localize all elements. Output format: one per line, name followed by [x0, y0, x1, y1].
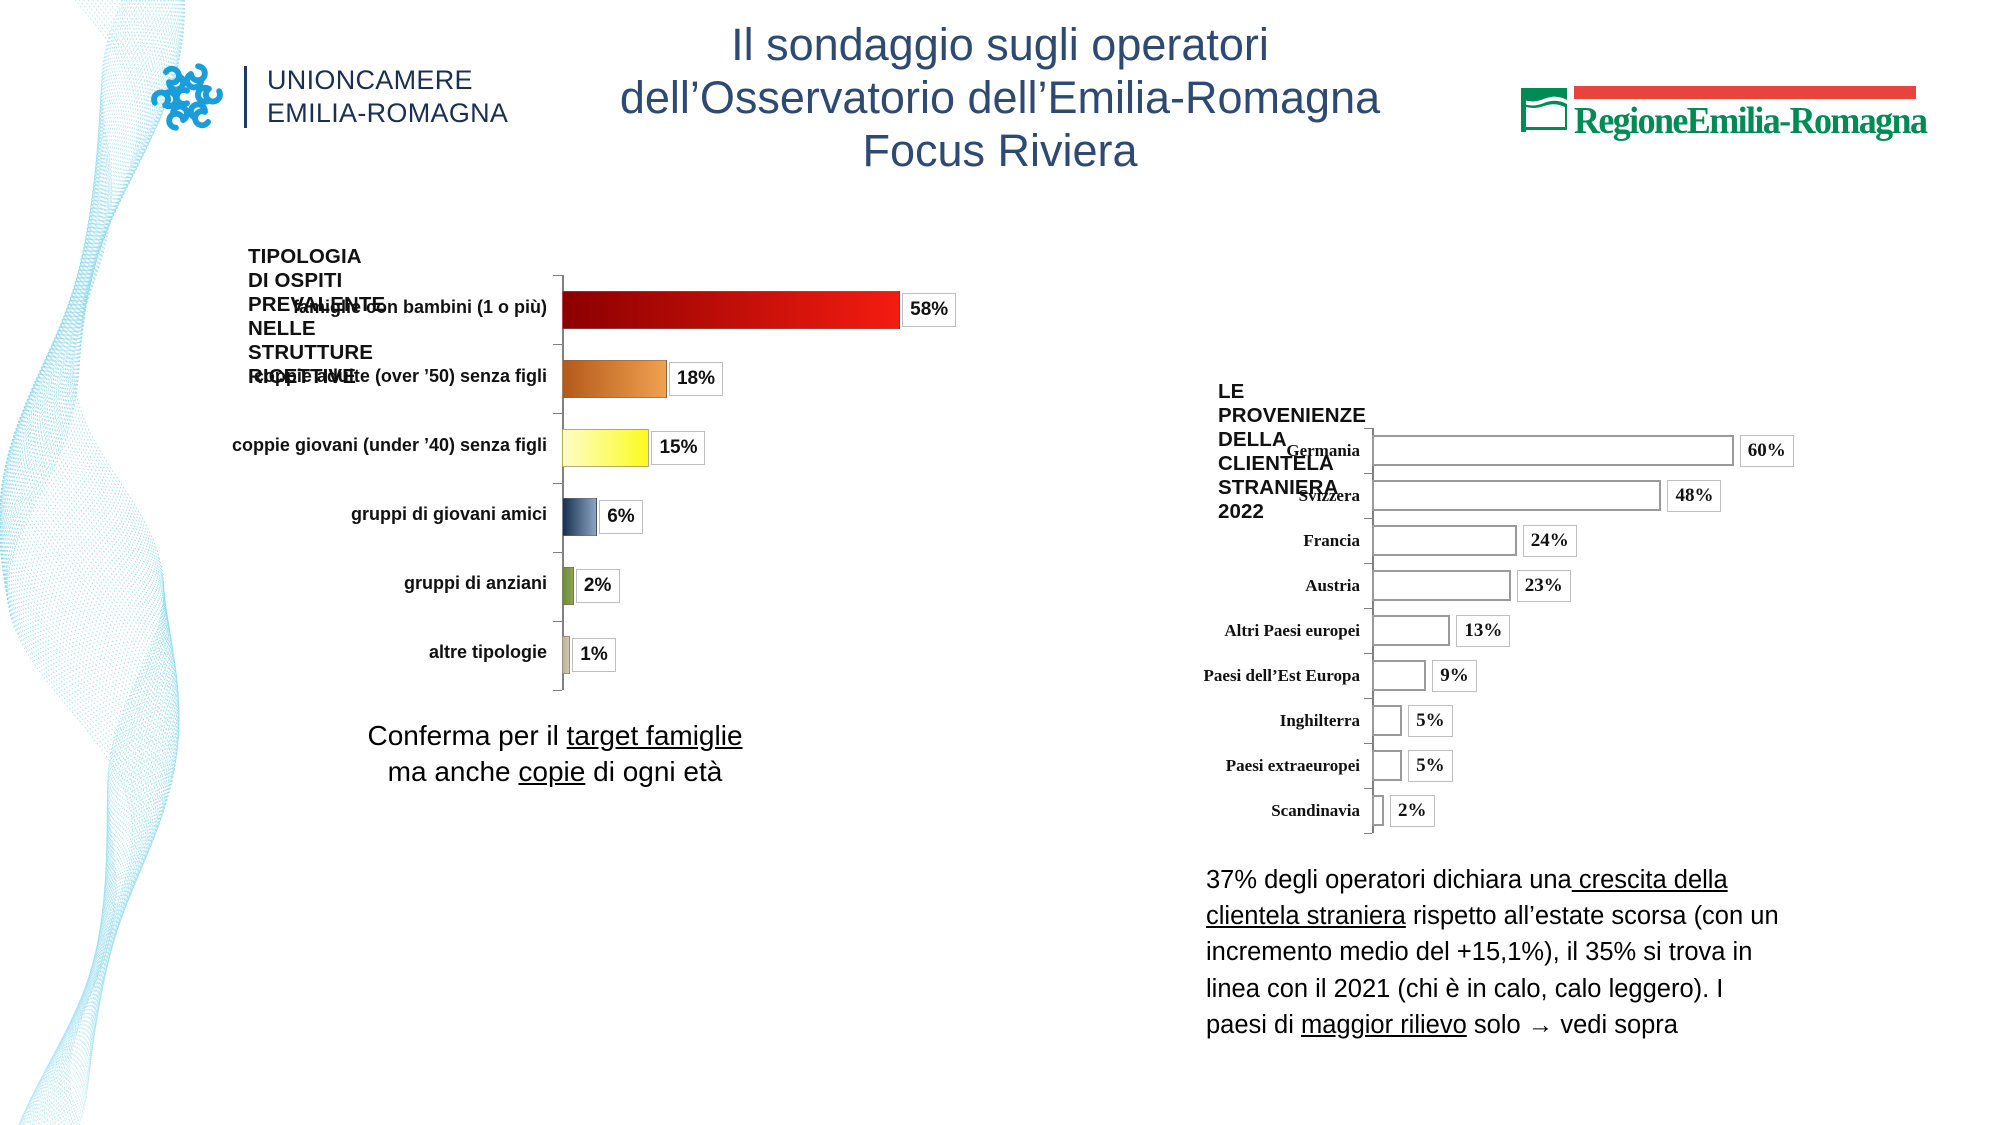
title-line-1: Il sondaggio sugli operatori: [520, 18, 1480, 71]
chart-right-value-label: 13%: [1456, 615, 1510, 647]
chart-left-bar[interactable]: [562, 498, 597, 536]
arrow-glyph: →: [1528, 1011, 1554, 1039]
chart-right-tick: [1364, 473, 1372, 474]
chart-left-tick: [553, 621, 562, 622]
regione-flag-icon: [1520, 86, 1568, 134]
chart-left-tick: [553, 690, 562, 691]
chart-left-bar[interactable]: [562, 429, 649, 467]
chart-left-axis: [562, 275, 564, 690]
paragraph-seg-1: 37% degli operatori dichiara una: [1206, 866, 1572, 894]
chart-right-tick: [1364, 608, 1372, 609]
chart-left-value-label: 6%: [599, 500, 643, 534]
chart-right-tick: [1364, 833, 1372, 834]
chart-left-category-label: altre tipologie: [142, 642, 547, 663]
chart-left-value-label: 1%: [572, 638, 616, 672]
chart-left-category-label: famiglie con bambini (1 o più): [142, 297, 547, 318]
chart-left-value-label: 2%: [576, 569, 620, 603]
chart-right-category-label: Scandinavia: [1122, 791, 1360, 831]
chart-left-bar[interactable]: [562, 567, 574, 605]
regione-emilia-romagna-logo: RegioneEmilia-Romagna: [1520, 82, 1920, 137]
unioncamere-line1: UNIONCAMERE: [267, 64, 508, 97]
chart-right-category-label: Austria: [1122, 566, 1360, 606]
chart-right-bar[interactable]: [1372, 435, 1734, 466]
page-title: Il sondaggio sugli operatori dell’Osserv…: [520, 18, 1480, 177]
chart-right-category-label: Paesi extraeuropei: [1122, 746, 1360, 786]
caption-line-1: Conferma per il target famiglie: [330, 718, 780, 754]
chart-right-category-label: Francia: [1122, 521, 1360, 561]
chart-right-tick: [1364, 653, 1372, 654]
paragraph-seg-4-underlined: maggior rilievo: [1301, 1011, 1467, 1039]
chart-right-bar[interactable]: [1372, 705, 1402, 736]
chart-left-value-label: 15%: [651, 431, 705, 465]
chart-right-tick: [1364, 698, 1372, 699]
chart-right-tick: [1364, 428, 1372, 429]
unioncamere-logo: UNIONCAMERE EMILIA-ROMAGNA: [148, 58, 508, 136]
chart-left-caption: Conferma per il target famiglie ma anche…: [330, 718, 780, 790]
chart-left-value-label: 18%: [669, 362, 723, 396]
chart-left-bar[interactable]: [562, 360, 667, 398]
chart-left-value-label: 58%: [902, 293, 956, 327]
chart-right-category-label: Altri Paesi europei: [1122, 611, 1360, 651]
chart-right-value-label: 24%: [1523, 525, 1577, 557]
chart-left-bar[interactable]: [562, 291, 900, 329]
chart-right-tick: [1364, 788, 1372, 789]
caption-line-2: ma anche copie di ogni età: [330, 754, 780, 790]
chart-left-tick: [553, 275, 562, 276]
chart-left-category-label: gruppi di giovani amici: [142, 504, 547, 525]
chart-right-category-label: Svizzera: [1122, 476, 1360, 516]
chart-right-bar[interactable]: [1372, 660, 1426, 691]
chart-right-value-label: 9%: [1432, 660, 1477, 692]
chart-left-category-label: coppie adulte (over ’50) senza figli: [142, 366, 547, 387]
logo-divider: [244, 66, 247, 128]
unioncamere-rosette-icon: [148, 58, 226, 136]
caption-line2-post: di ogni età: [585, 756, 722, 787]
chart-left-category-label: coppie giovani (under ’40) senza figli: [142, 435, 547, 456]
chart-right-bar[interactable]: [1372, 570, 1511, 601]
chart-left-tick: [553, 413, 562, 414]
chart-right-category-label: Paesi dell’Est Europa: [1122, 656, 1360, 696]
chart-right-tick: [1364, 518, 1372, 519]
caption-line2-underlined: copie: [518, 756, 585, 787]
regione-wordmark: RegioneEmilia-Romagna: [1574, 98, 1920, 143]
right-commentary-paragraph: 37% degli operatori dichiara una crescit…: [1206, 862, 1786, 1043]
chart-left-tick: [553, 344, 562, 345]
chart-left-category-label: gruppi di anziani: [142, 573, 547, 594]
chart-right-category-label: Germania: [1122, 431, 1360, 471]
caption-line1-pre: Conferma per il: [367, 720, 566, 751]
chart-right-bar[interactable]: [1372, 795, 1384, 826]
unioncamere-wordmark: UNIONCAMERE EMILIA-ROMAGNA: [267, 64, 508, 130]
paragraph-seg-5: solo: [1467, 1011, 1528, 1039]
title-line-2: dell’Osservatorio dell’Emilia-Romagna: [520, 71, 1480, 124]
chart-right-value-label: 23%: [1517, 570, 1571, 602]
chart-right-value-label: 5%: [1408, 750, 1453, 782]
chart-right-value-label: 5%: [1408, 705, 1453, 737]
caption-line2-pre: ma anche: [388, 756, 519, 787]
chart-right-tick: [1364, 563, 1372, 564]
chart-left-tick: [553, 483, 562, 484]
chart-right-value-label: 2%: [1390, 795, 1435, 827]
chart-right-bar[interactable]: [1372, 615, 1450, 646]
chart-left-tick: [553, 552, 562, 553]
chart-right-value-label: 48%: [1667, 480, 1721, 512]
chart-right-bar[interactable]: [1372, 480, 1661, 511]
chart-right-tick: [1364, 743, 1372, 744]
caption-line1-underlined: target famiglie: [567, 720, 743, 751]
chart-right-bar[interactable]: [1372, 750, 1402, 781]
title-line-3: Focus Riviera: [520, 124, 1480, 177]
chart-left-bar[interactable]: [562, 636, 570, 674]
paragraph-seg-6: vedi sopra: [1553, 1011, 1678, 1039]
chart-right-category-label: Inghilterra: [1122, 701, 1360, 741]
chart-right-value-label: 60%: [1740, 435, 1794, 467]
unioncamere-line2: EMILIA-ROMAGNA: [267, 97, 508, 130]
slide-header: UNIONCAMERE EMILIA-ROMAGNA Il sondaggio …: [0, 0, 2000, 185]
chart-right-bar[interactable]: [1372, 525, 1517, 556]
